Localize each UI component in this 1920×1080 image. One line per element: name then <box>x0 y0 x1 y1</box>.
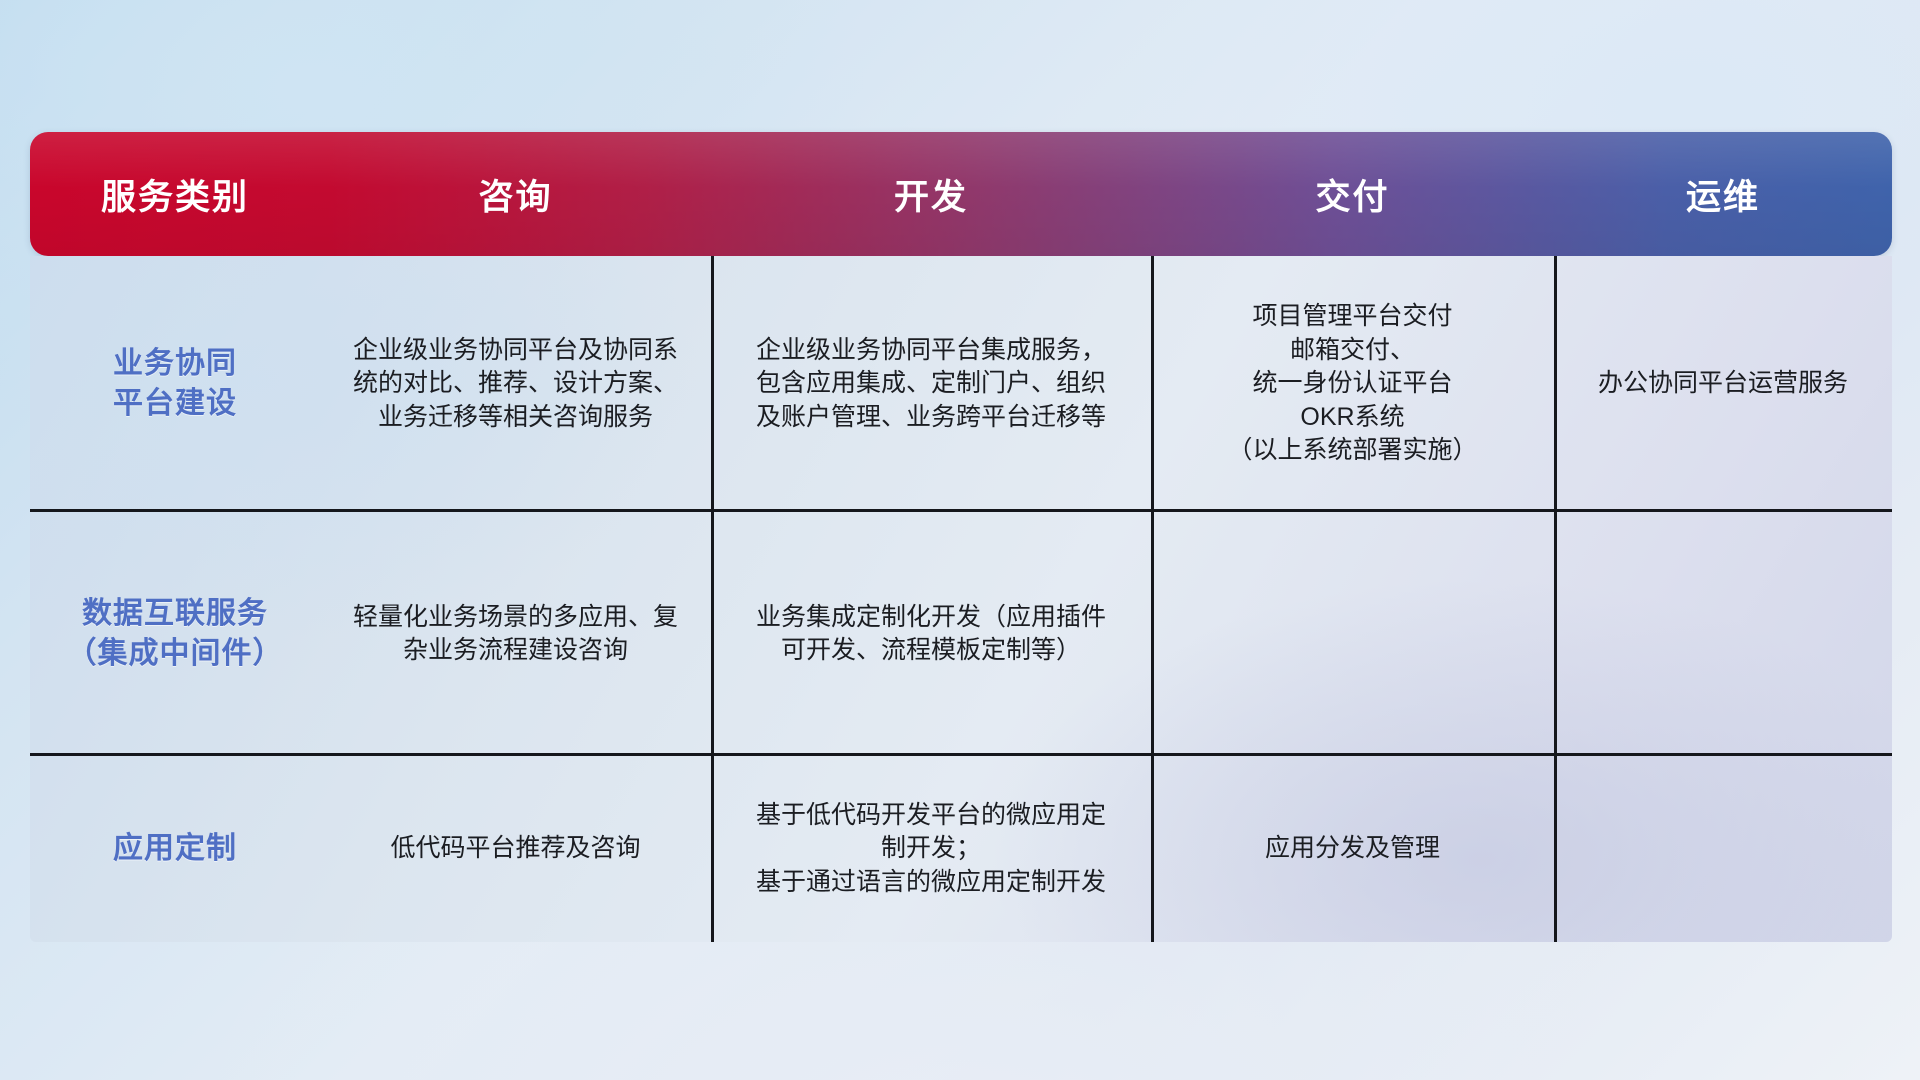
cell-development: 基于低代码开发平台的微应用定 制开发； 基于通过语言的微应用定制开发 <box>711 756 1151 942</box>
row-label-cell: 业务协同 平台建设 <box>30 256 320 512</box>
table-row: 应用定制 低代码平台推荐及咨询 基于低代码开发平台的微应用定 制开发； 基于通过… <box>30 756 1892 942</box>
cell-development: 业务集成定制化开发（应用插件 可开发、流程模板定制等） <box>711 512 1151 756</box>
table-row: 数据互联服务 （集成中间件） 轻量化业务场景的多应用、复 杂业务流程建设咨询 业… <box>30 512 1892 756</box>
column-header-delivery: 交付 <box>1151 169 1554 220</box>
row-label-cell: 应用定制 <box>30 756 320 942</box>
cell-consulting: 低代码平台推荐及咨询 <box>320 756 711 942</box>
column-header-development: 开发 <box>711 169 1151 220</box>
cell-consulting: 轻量化业务场景的多应用、复 杂业务流程建设咨询 <box>320 512 711 756</box>
column-header-consulting: 咨询 <box>320 169 711 220</box>
table-body: 业务协同 平台建设 企业级业务协同平台及协同系 统的对比、推荐、设计方案、 业务… <box>30 256 1892 942</box>
table-header-row: 服务类别 咨询 开发 交付 运维 <box>30 132 1892 256</box>
cell-development: 企业级业务协同平台集成服务， 包含应用集成、定制门户、组织 及账户管理、业务跨平… <box>711 256 1151 512</box>
cell-operations: 办公协同平台运营服务 <box>1554 256 1892 512</box>
cell-operations <box>1554 512 1892 756</box>
service-matrix-table: 服务类别 咨询 开发 交付 运维 业务协同 平台建设 企业级业务协同平台及协同系… <box>30 132 1892 942</box>
cell-delivery <box>1151 512 1554 756</box>
cell-delivery: 项目管理平台交付 邮箱交付、 统一身份认证平台 OKR系统 （以上系统部署实施） <box>1151 256 1554 512</box>
cell-delivery: 应用分发及管理 <box>1151 756 1554 942</box>
row-label-cell: 数据互联服务 （集成中间件） <box>30 512 320 756</box>
cell-consulting: 企业级业务协同平台及协同系 统的对比、推荐、设计方案、 业务迁移等相关咨询服务 <box>320 256 711 512</box>
cell-operations <box>1554 756 1892 942</box>
column-header-operations: 运维 <box>1554 169 1892 220</box>
table-row: 业务协同 平台建设 企业级业务协同平台及协同系 统的对比、推荐、设计方案、 业务… <box>30 256 1892 512</box>
slide-canvas: 服务类别 咨询 开发 交付 运维 业务协同 平台建设 企业级业务协同平台及协同系… <box>0 0 1920 1080</box>
column-header-category: 服务类别 <box>30 169 320 220</box>
